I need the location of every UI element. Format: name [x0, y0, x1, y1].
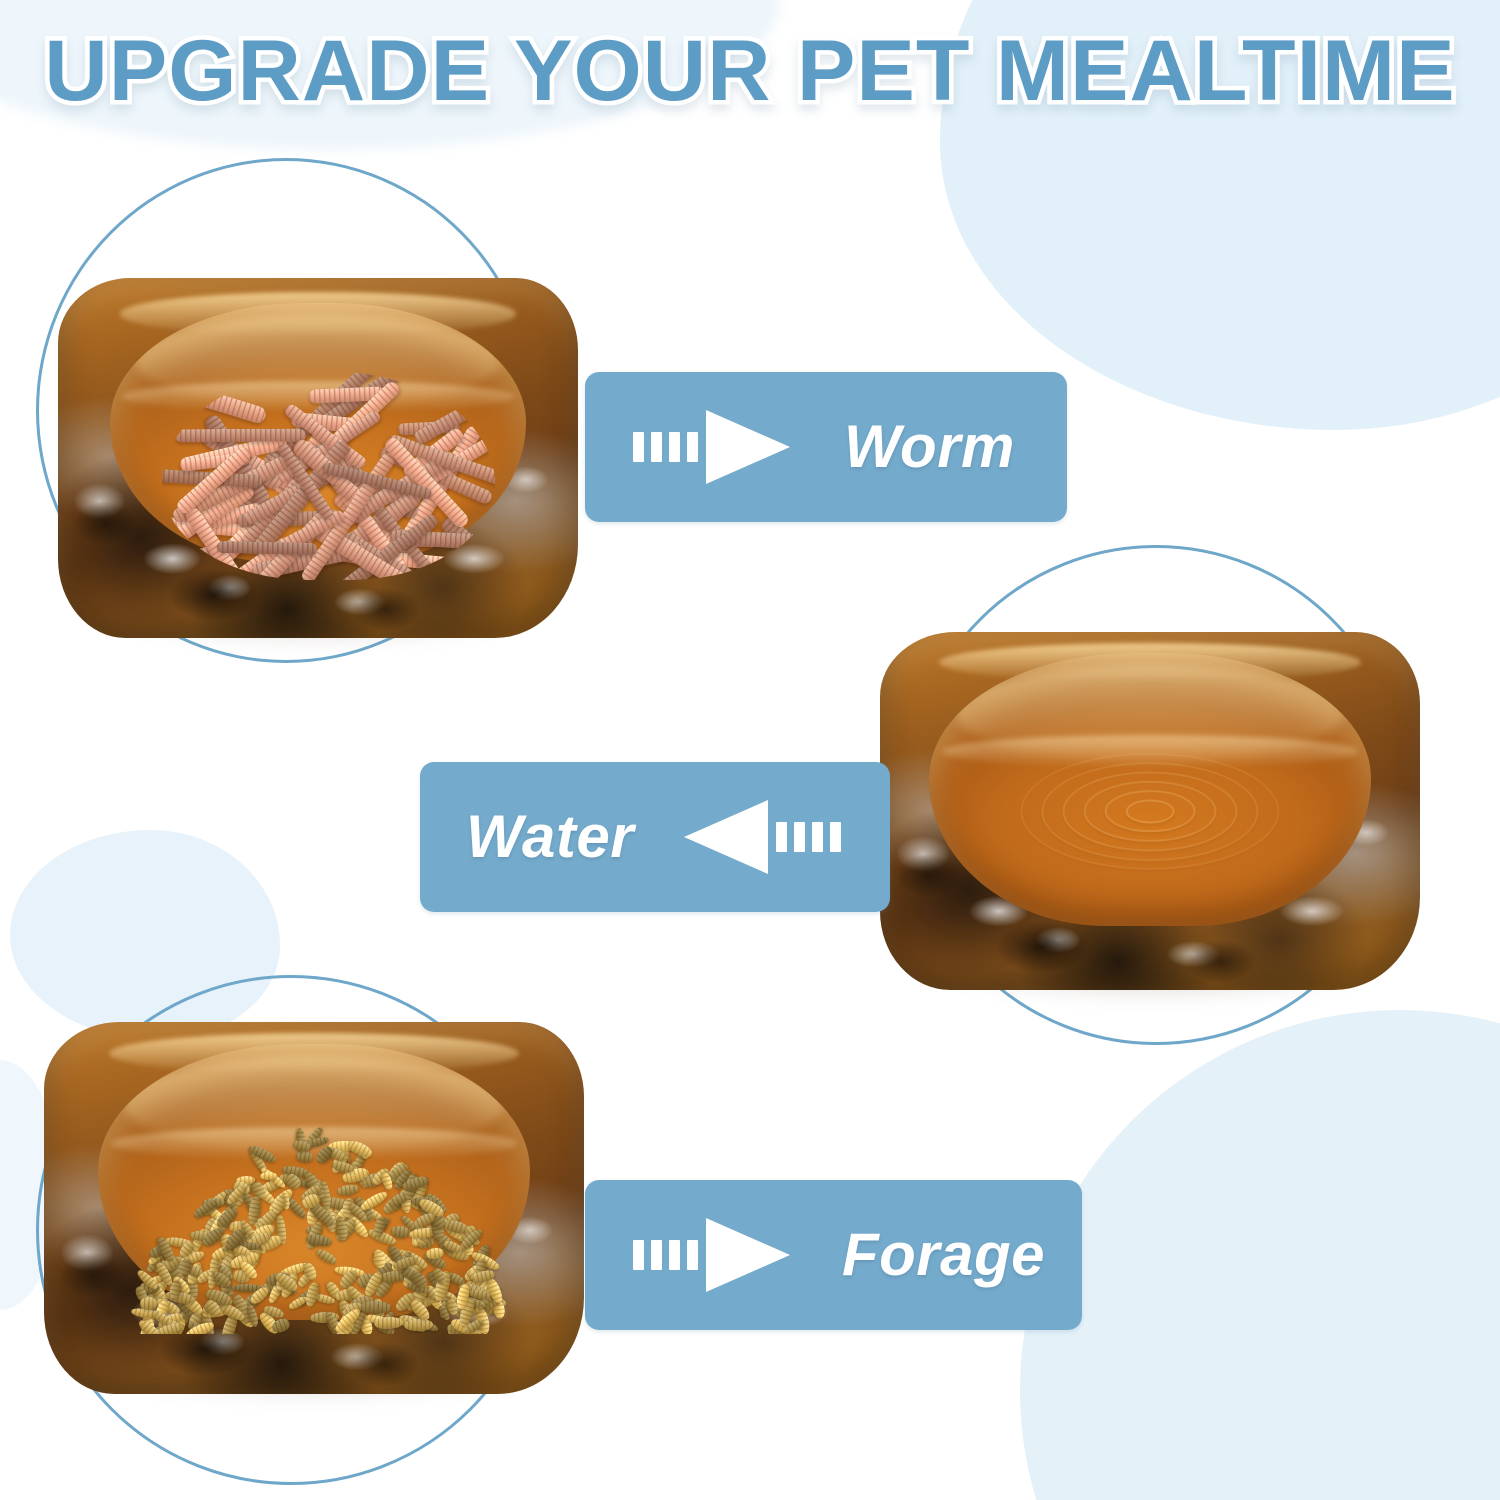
play-arrow-right-icon [633, 1218, 790, 1292]
product-image-forage-bowl [44, 1022, 584, 1394]
feature-badge-label-worm: Worm [844, 417, 1015, 477]
rim-highlight-water [939, 643, 1360, 682]
food-pellet-pile [130, 1126, 508, 1334]
play-arrow-left-icon [684, 800, 841, 874]
feature-badge-water[interactable]: Water [420, 762, 890, 912]
rim-highlight-forage [109, 1033, 519, 1074]
food-pellet [287, 1295, 308, 1312]
food-pellet [295, 1150, 313, 1163]
water-ripple-ring [1020, 753, 1279, 870]
feature-badge-label-forage: Forage [842, 1225, 1045, 1285]
product-image-water-bowl [880, 632, 1420, 990]
product-image-worm-bowl [58, 278, 578, 638]
feature-badge-label-water: Water [466, 807, 634, 867]
food-pellet [336, 1183, 359, 1197]
food-pellet [404, 1319, 434, 1331]
food-pellet [315, 1247, 339, 1267]
infographic-stage: UPGRADE YOUR PET MEALTIME Worm [0, 0, 1500, 1500]
feature-badge-forage[interactable]: Forage [585, 1180, 1082, 1330]
food-pellet [140, 1297, 157, 1310]
feature-badge-worm[interactable]: Worm [585, 372, 1067, 522]
play-arrow-right-icon [633, 410, 790, 484]
rim-highlight-worm [120, 292, 515, 335]
mealworm [175, 429, 306, 443]
mealworm-pile [162, 372, 495, 581]
page-title: UPGRADE YOUR PET MEALTIME [0, 28, 1500, 114]
background-blob-bottom-right [1020, 1010, 1500, 1500]
bowl-cavity-water [929, 653, 1372, 925]
mealworm [217, 541, 318, 555]
food-pellet [374, 1316, 403, 1329]
food-pellet [361, 1301, 391, 1314]
water-ripples [1026, 749, 1274, 874]
